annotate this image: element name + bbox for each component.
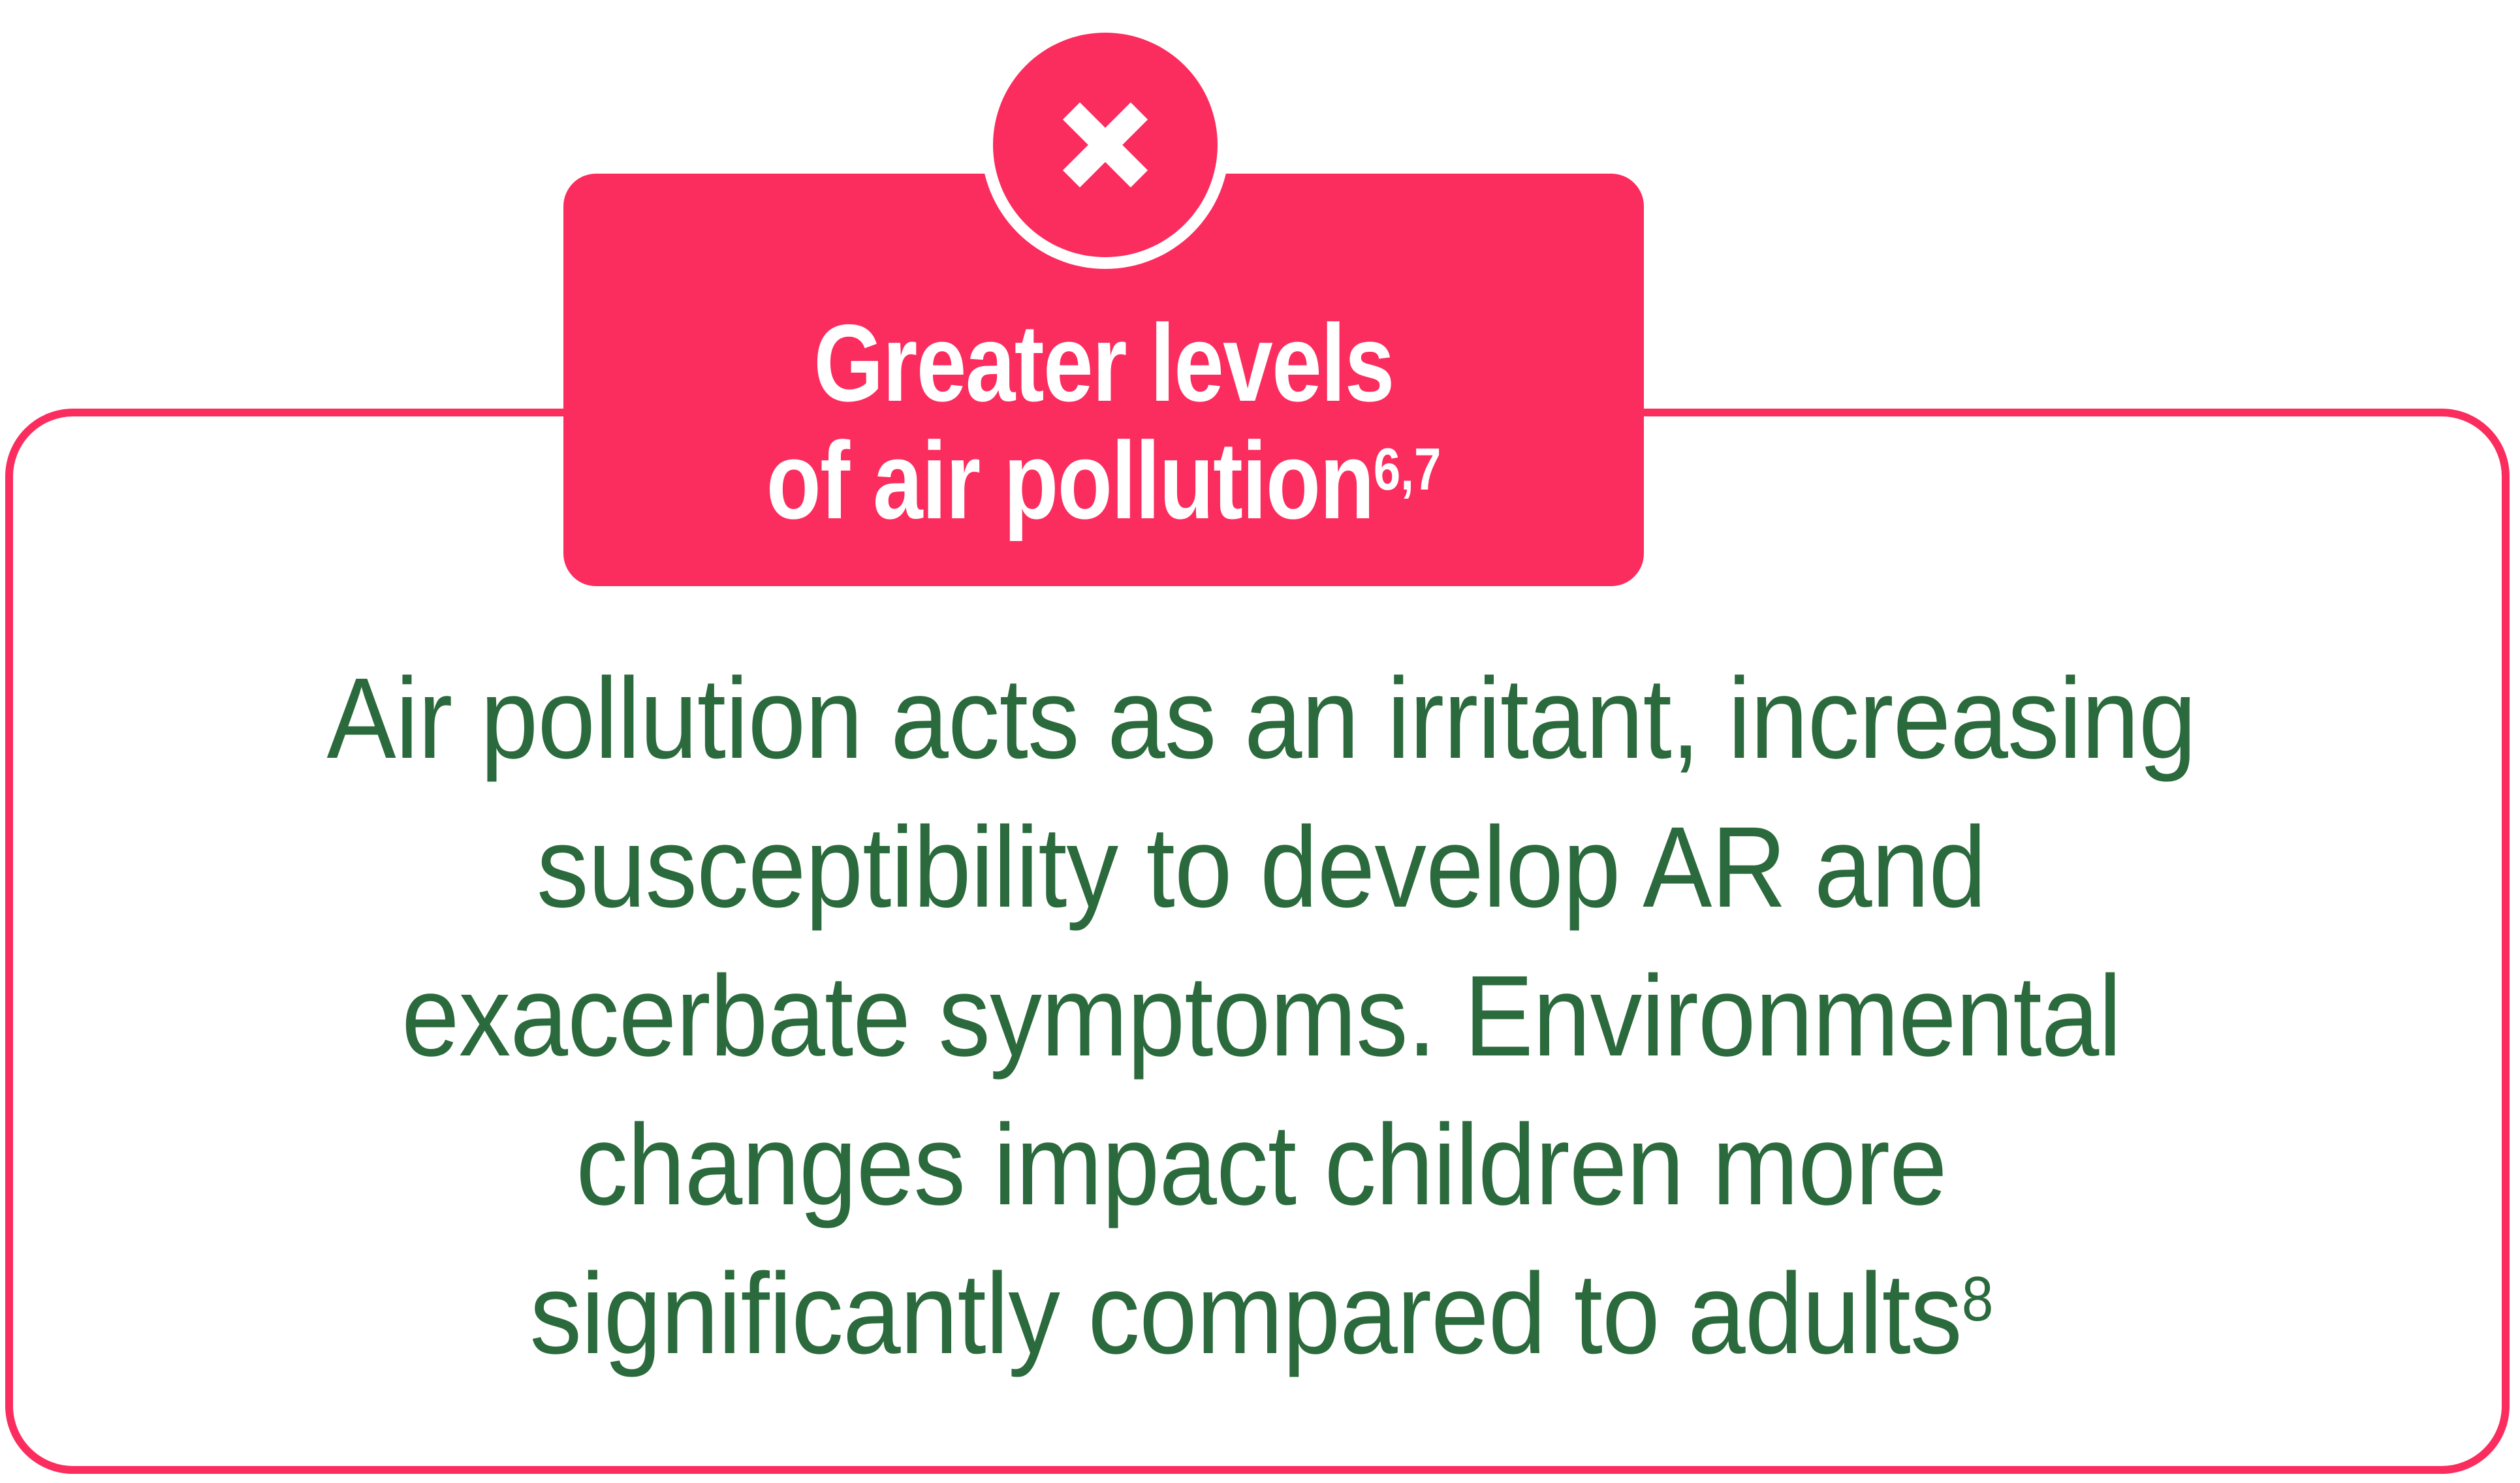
- heading-line-2: of air pollution6,7: [661, 422, 1547, 557]
- heading-line-1: Greater levels: [661, 304, 1547, 422]
- body-line-5: significantly compared to adults8: [198, 1240, 2325, 1406]
- body-citation-superscript: 8: [1962, 1263, 1993, 1334]
- body-text: Air pollution acts as an irritant, incre…: [86, 644, 2436, 1406]
- body-line-2: susceptibility to develop AR and: [198, 793, 2325, 942]
- body-line-1: Air pollution acts as an irritant, incre…: [198, 644, 2325, 793]
- body-line-4: changes impact children more: [198, 1091, 2325, 1240]
- body-line-5-text: significantly compared to adults: [529, 1250, 1961, 1378]
- heading-badge-label: Greater levels of air pollution6,7: [661, 304, 1547, 557]
- x-mark-circle-badge: [975, 14, 1236, 275]
- infographic-card-root: Air pollution acts as an irritant, incre…: [0, 0, 2520, 1483]
- heading-citation-superscript: 6,7: [1374, 437, 1441, 503]
- body-line-3: exacerbate symptoms. Environmental: [198, 942, 2325, 1091]
- heading-line-2-text: of air pollution: [766, 419, 1374, 542]
